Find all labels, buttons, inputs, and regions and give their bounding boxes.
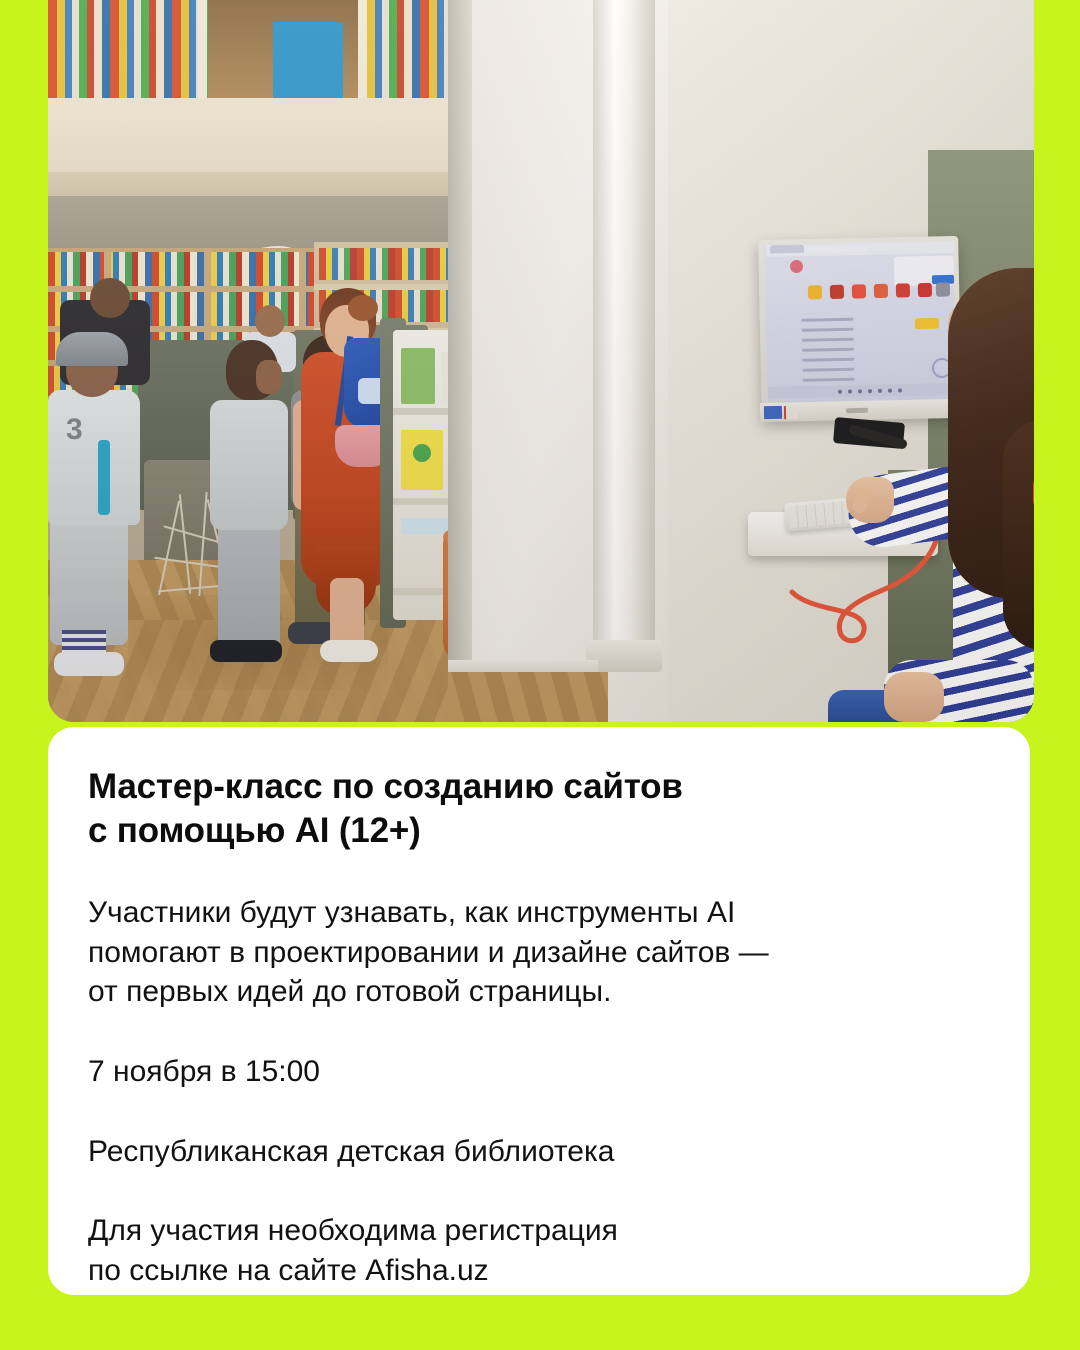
screen-list-rows xyxy=(801,317,874,382)
white-column xyxy=(593,0,655,660)
monitor-sticker-white xyxy=(784,406,798,419)
monitor-brand-mark xyxy=(846,408,868,413)
shelf-divider xyxy=(198,0,207,100)
child-face xyxy=(256,360,282,394)
mezzanine-book-a xyxy=(273,22,343,100)
screen-app-icons xyxy=(808,283,948,306)
child-cap xyxy=(56,332,128,366)
child-jacket xyxy=(48,390,140,525)
woman-leg xyxy=(330,578,364,648)
headphone-cord-clip xyxy=(1033,478,1034,508)
distant-person-head xyxy=(255,305,285,337)
woman-hair-top xyxy=(348,295,378,321)
child-shoe xyxy=(210,640,282,662)
child-shoe xyxy=(54,652,124,676)
event-datetime: 7 ноября в 15:00 xyxy=(88,1052,978,1092)
screen-highlight-badge xyxy=(915,318,939,330)
event-title: Мастер-класс по созданию сайтов с помощь… xyxy=(88,765,978,853)
browser-tab xyxy=(770,245,804,254)
event-info-card: Мастер-класс по созданию сайтов с помощь… xyxy=(48,727,1030,1295)
shelf-divider xyxy=(358,0,367,100)
wall-edge xyxy=(448,0,472,722)
girl-hair-lower xyxy=(1003,420,1034,650)
child-legs xyxy=(50,505,128,645)
poster-root: 3 xyxy=(0,0,1080,1350)
child-tshirt xyxy=(210,400,288,530)
girl-second-hand xyxy=(884,672,944,722)
event-description: Участники будут узнавать, как инструмент… xyxy=(88,893,978,1012)
event-registration-note: Для участия необходима регистрация по сс… xyxy=(88,1211,978,1290)
monitor-sticker-blue xyxy=(764,406,782,419)
event-venue: Республиканская детская библиотека xyxy=(88,1132,978,1172)
child-legs xyxy=(218,515,280,650)
woman-shoe xyxy=(320,640,378,662)
jacket-number: 3 xyxy=(66,415,92,445)
jacket-trim xyxy=(98,440,110,515)
wooden-floor-right xyxy=(448,672,608,722)
background-adult-head xyxy=(90,278,130,318)
event-photo: 3 xyxy=(48,0,1034,722)
